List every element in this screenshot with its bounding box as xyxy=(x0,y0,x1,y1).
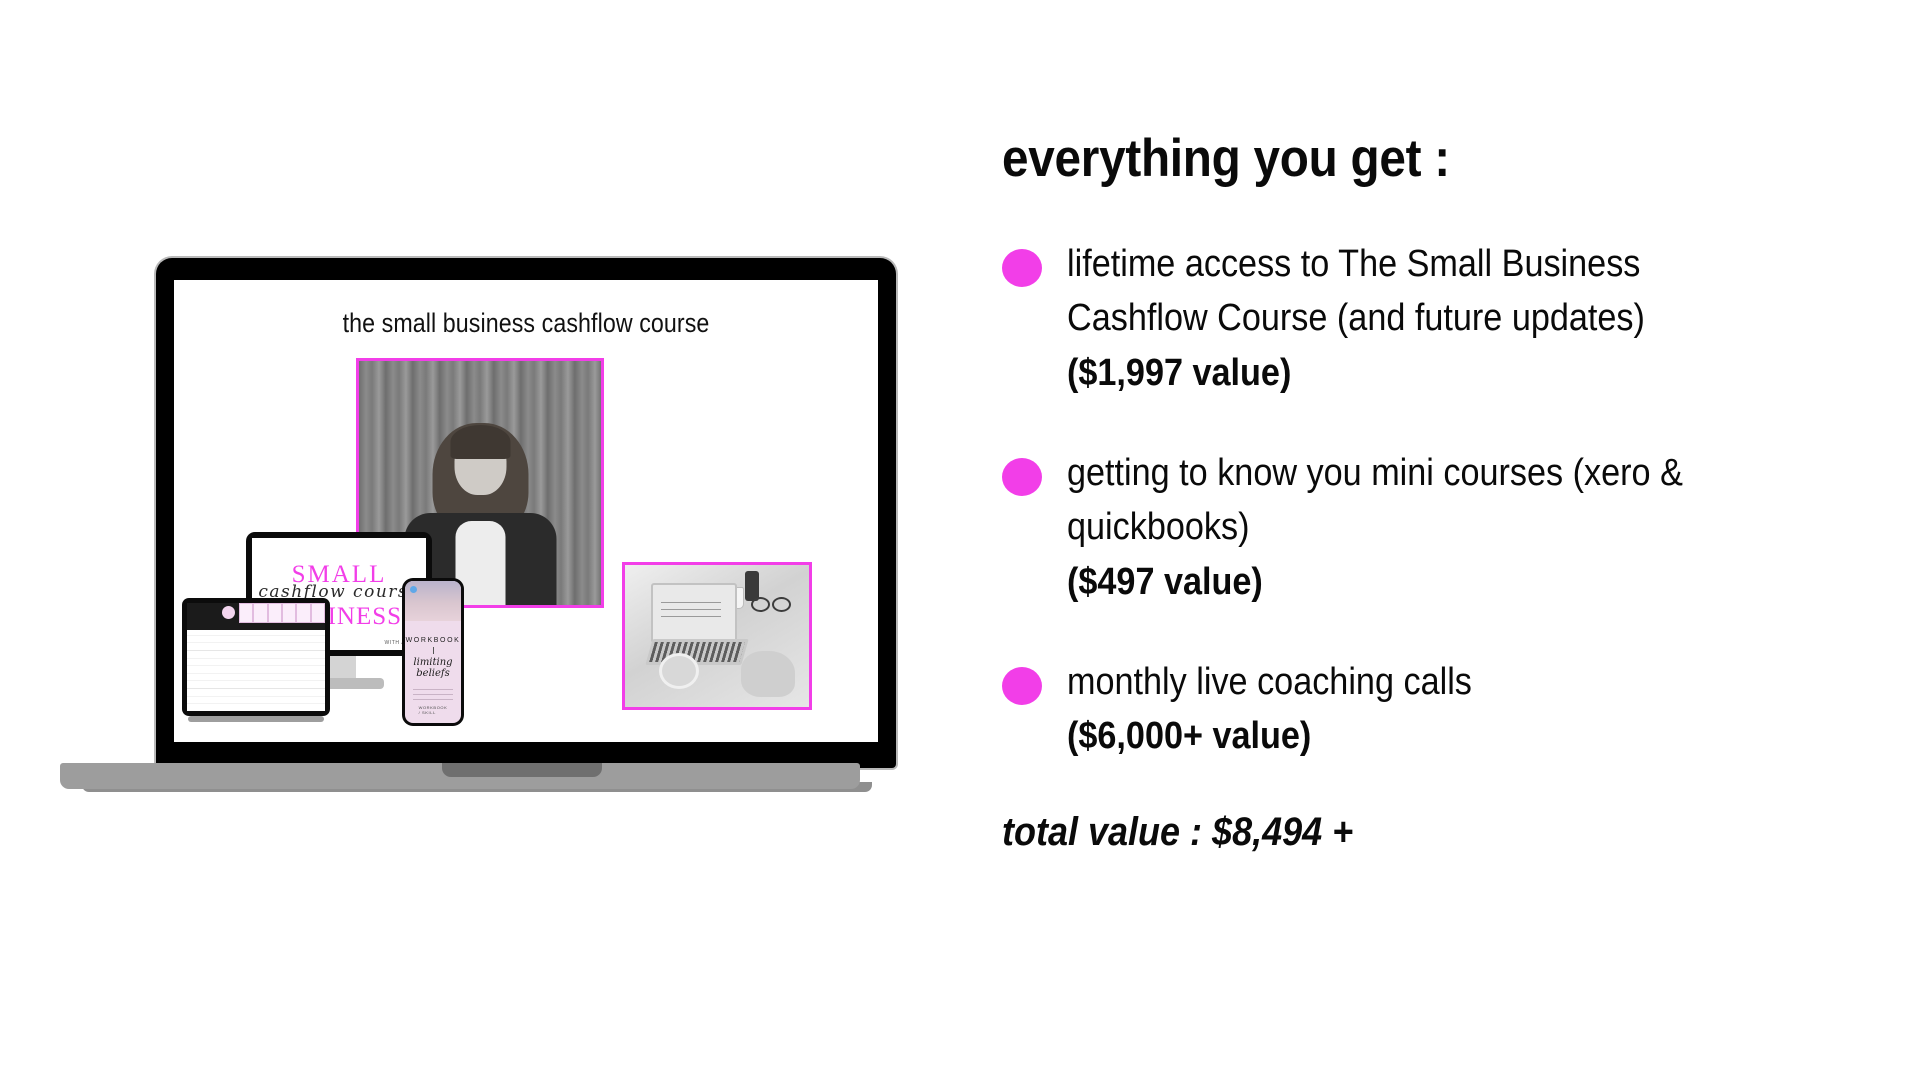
sheet-col xyxy=(268,603,282,623)
desk-laptop-text-lines xyxy=(661,597,721,617)
spreadsheet-logo xyxy=(187,603,239,623)
coffee-cup-shape xyxy=(659,653,699,689)
phone-workbook-label: WORKBOOK xyxy=(405,637,461,644)
desk-workspace-photo xyxy=(622,562,812,710)
benefit-description: lifetime access to The Small Business Ca… xyxy=(1067,243,1645,339)
spreadsheet-subheader xyxy=(187,623,325,630)
tablet-foot xyxy=(188,716,324,722)
phone-body-text xyxy=(413,686,453,700)
sheet-col xyxy=(253,603,267,623)
list-item: getting to know you mini courses (xero &… xyxy=(1002,446,1862,609)
phone-script-text: limiting beliefs xyxy=(405,657,461,679)
eyeglasses-shape xyxy=(751,597,791,609)
phone-cta-label: WORKBOOK / SKILL xyxy=(419,705,448,715)
benefit-value: ($497 value) xyxy=(1067,555,1751,609)
laptop-screen: the small business cashflow course xyxy=(174,280,878,742)
benefit-text: getting to know you mini courses (xero &… xyxy=(1067,446,1751,609)
spreadsheet-column-headers xyxy=(239,603,325,623)
product-collage: SMALL cashflow course BUSINESS WITH AMY xyxy=(174,280,878,742)
spreadsheet-grid xyxy=(187,630,325,711)
phone-mockup: WORKBOOK limiting beliefs WORKBOOK / SKI… xyxy=(402,578,464,726)
bullet-dot-icon xyxy=(1002,249,1042,287)
desk-laptop-shape xyxy=(651,583,737,643)
hand-shape xyxy=(741,651,795,697)
phone-screen: WORKBOOK limiting beliefs WORKBOOK / SKI… xyxy=(405,581,461,723)
list-item: monthly live coaching calls ($6,000+ val… xyxy=(1002,655,1862,764)
tablet-screen xyxy=(187,603,325,711)
spreadsheet-header-row xyxy=(187,603,325,623)
sheet-col xyxy=(239,603,253,623)
offer-details-panel: everything you get : lifetime access to … xyxy=(1002,132,1862,855)
hair-front-shape xyxy=(450,425,510,459)
bullet-dot-icon xyxy=(1002,667,1042,705)
phone-divider xyxy=(433,647,434,654)
total-value-label: total value : $8,494 + xyxy=(1002,810,1776,855)
benefit-description: getting to know you mini courses (xero &… xyxy=(1067,452,1683,548)
benefit-text: monthly live coaching calls ($6,000+ val… xyxy=(1067,655,1751,764)
list-item: lifetime access to The Small Business Ca… xyxy=(1002,237,1862,400)
laptop-lid: the small business cashflow course xyxy=(156,258,896,768)
benefits-list: lifetime access to The Small Business Ca… xyxy=(1002,237,1862,764)
sheet-col xyxy=(311,603,325,623)
sheet-col xyxy=(296,603,310,623)
promo-slide: the small business cashflow course xyxy=(0,0,1920,1080)
benefit-text: lifetime access to The Small Business Ca… xyxy=(1067,237,1751,400)
bullet-dot-icon xyxy=(1002,458,1042,496)
laptop-mockup: the small business cashflow course xyxy=(60,258,990,803)
tablet-mockup xyxy=(182,598,330,716)
benefit-description: monthly live coaching calls xyxy=(1067,661,1472,703)
phone-hero-image xyxy=(405,581,461,621)
page-title: everything you get : xyxy=(1002,132,1776,185)
laptop-trackpad-notch xyxy=(442,763,602,777)
benefit-value: ($6,000+ value) xyxy=(1067,709,1751,763)
benefit-value: ($1,997 value) xyxy=(1067,346,1751,400)
sheet-col xyxy=(282,603,296,623)
